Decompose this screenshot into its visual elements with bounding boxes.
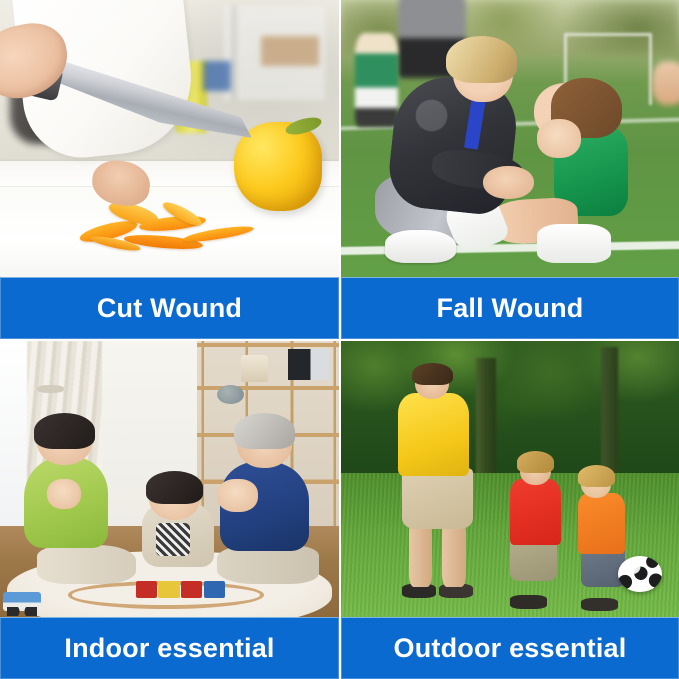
grandmother-hair [34,413,95,449]
boy-orange-shirt-hair [578,465,615,487]
tree-trunk-secondary [601,347,618,474]
shelf-lamp [241,355,268,383]
man-hair [412,363,453,385]
caption-label: Cut Wound [97,295,242,322]
shelf-books [288,349,329,379]
girl-white-sock [537,224,611,263]
grandmother-legs [37,545,135,584]
train-car [136,581,157,598]
tree-trunk [476,358,496,490]
grandfather-clapping-hands [217,479,258,512]
child-hair [146,471,204,504]
caption-band-outdoor-essential: Outdoor essential [341,617,679,679]
boy-red-shirt-shoe [510,595,547,609]
toy-train [136,581,217,598]
toy-car [3,592,40,611]
background-young-player [355,33,399,127]
child-plaid-shirt [156,523,190,556]
train-car [204,581,225,598]
background-blue-bin [203,61,230,91]
use-case-grid: Cut Wound [0,0,679,679]
sliced-pepper-strips [75,199,272,257]
caption-band-cut-wound: Cut Wound [0,277,339,339]
photo-kitchen-cutting-pepper [0,0,339,277]
use-case-cell-fall-wound[interactable]: Fall Wound [339,0,679,339]
boy-orange-tshirt [578,493,625,554]
photo-soccer-field-injury [341,0,679,277]
use-case-cell-outdoor-essential[interactable]: Outdoor essential [339,339,679,679]
curtain-tieback [37,385,64,393]
tree-canopy [341,341,679,479]
boy-orange-shirt-shoe [581,598,618,612]
background-player-arm [652,61,679,105]
man-right-leg [442,520,466,586]
caption-label: Outdoor essential [394,635,627,662]
coach-blonde-hair [446,36,517,83]
girl-hands-covering-face [537,119,581,158]
use-case-cell-indoor-essential[interactable]: Indoor essential [0,339,339,679]
coach-hands-on-knee [483,166,534,199]
boy-red-tshirt [510,479,561,545]
photo-living-room-family [0,341,339,617]
grandfather-legs [217,545,319,584]
grandfather-grey-hair [234,413,295,449]
man-left-leg [409,520,433,586]
background-box [261,36,319,66]
train-car [181,581,202,598]
use-case-cell-cut-wound[interactable]: Cut Wound [0,0,339,339]
grandmother-clapping-hands [47,479,81,509]
photo-park-soccer-family [341,341,679,617]
caption-band-indoor-essential: Indoor essential [0,617,339,679]
caption-label: Indoor essential [64,635,274,662]
coach-shoe [385,230,456,263]
boy-red-shirt-hair [517,451,554,473]
caption-label: Fall Wound [437,295,584,322]
man-yellow-polo [398,393,469,476]
train-car [158,581,179,598]
man-khaki-shorts [402,468,473,529]
soccer-ball [618,556,662,592]
caption-band-fall-wound: Fall Wound [341,277,679,339]
